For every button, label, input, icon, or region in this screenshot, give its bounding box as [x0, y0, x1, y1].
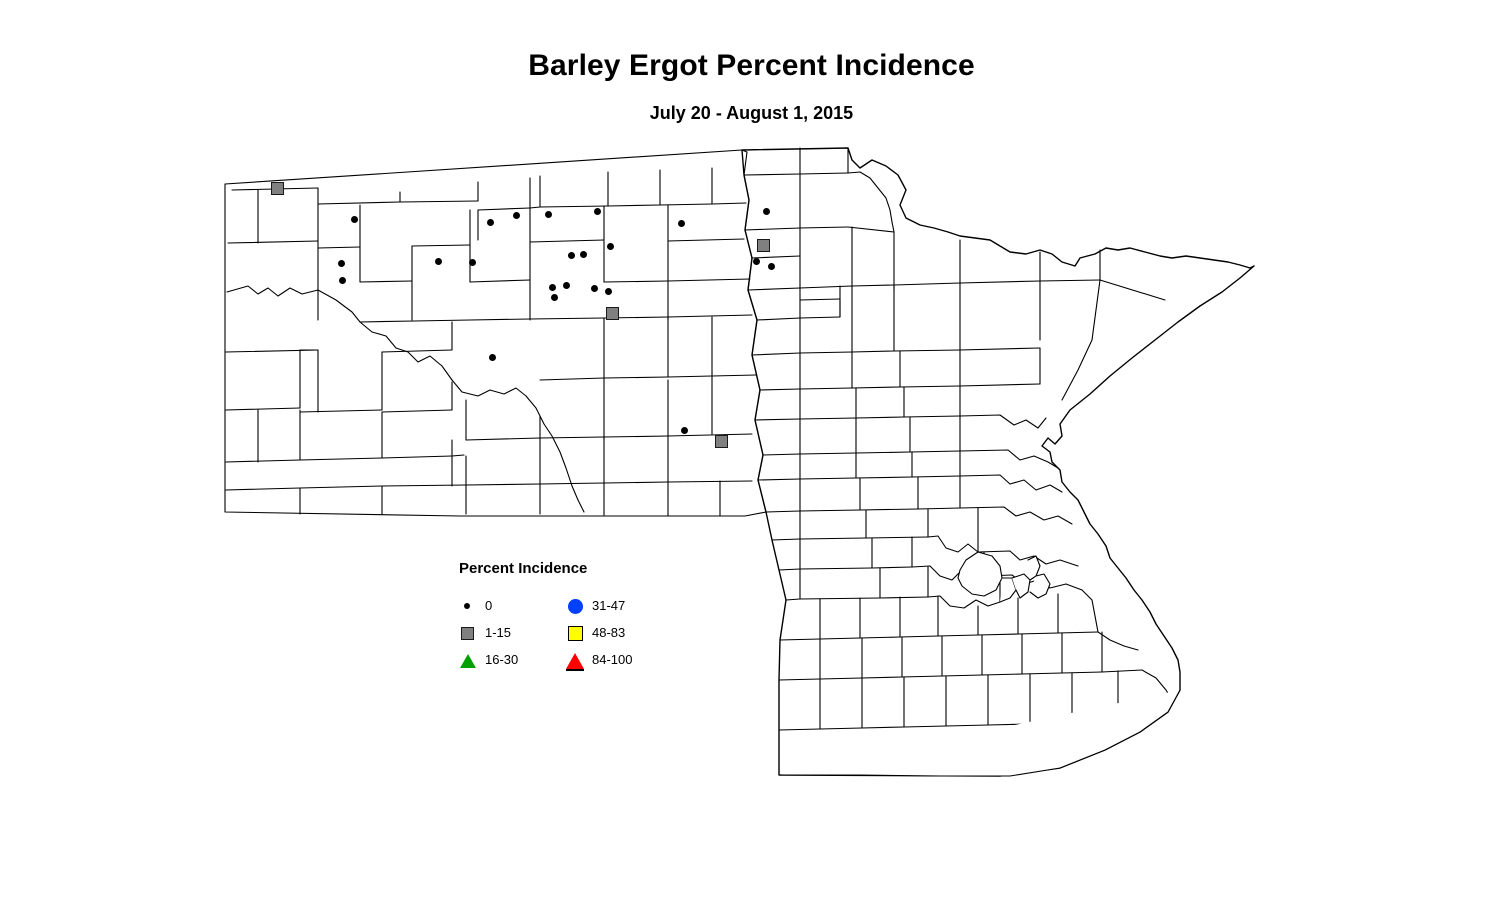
map-data-point — [545, 211, 552, 218]
red-triangle-icon — [566, 650, 590, 670]
minnesota-counties — [742, 148, 1254, 776]
legend-label-84-100: 84-100 — [592, 652, 632, 667]
map-data-point — [606, 307, 619, 320]
legend-label-16-30: 16-30 — [485, 652, 518, 667]
map-data-point — [605, 288, 612, 295]
map-data-point — [678, 220, 685, 227]
map-data-point — [271, 182, 284, 195]
map-data-point — [594, 208, 601, 215]
map-data-point — [580, 251, 587, 258]
legend-label-1-15: 1-15 — [485, 625, 511, 640]
blue-circle-icon — [566, 596, 590, 616]
map-data-point — [551, 294, 558, 301]
map-data-point — [487, 219, 494, 226]
map-data-point — [351, 216, 358, 223]
map-data-point — [435, 258, 442, 265]
map-data-point — [339, 277, 346, 284]
small-black-dot-icon — [459, 596, 483, 616]
map-data-point — [469, 259, 476, 266]
map-data-point — [715, 435, 728, 448]
yellow-square-icon — [566, 623, 590, 643]
map-legend: Percent Incidence 0 1-15 16-30 31-47 — [459, 560, 674, 680]
map-data-point — [753, 258, 760, 265]
legend-label-48-83: 48-83 — [592, 625, 625, 640]
map-data-point — [338, 260, 345, 267]
green-triangle-icon — [459, 650, 483, 670]
map-canvas — [0, 0, 1503, 900]
page-root: Barley Ergot Percent Incidence July 20 -… — [0, 0, 1503, 900]
map-data-point — [763, 208, 770, 215]
map-data-point — [489, 354, 496, 361]
map-data-point — [549, 284, 556, 291]
map-data-point — [681, 427, 688, 434]
legend-label-0: 0 — [485, 598, 492, 613]
mn-state-outline — [742, 148, 1254, 776]
map-data-point — [768, 263, 775, 270]
north-dakota-counties — [225, 150, 766, 516]
map-data-point — [591, 285, 598, 292]
map-data-point — [757, 239, 770, 252]
map-data-point — [563, 282, 570, 289]
state-county-map — [0, 0, 1503, 900]
map-data-point — [568, 252, 575, 259]
map-data-point — [607, 243, 614, 250]
legend-label-31-47: 31-47 — [592, 598, 625, 613]
map-data-point — [513, 212, 520, 219]
gray-square-icon — [459, 623, 483, 643]
legend-title: Percent Incidence — [459, 560, 587, 577]
